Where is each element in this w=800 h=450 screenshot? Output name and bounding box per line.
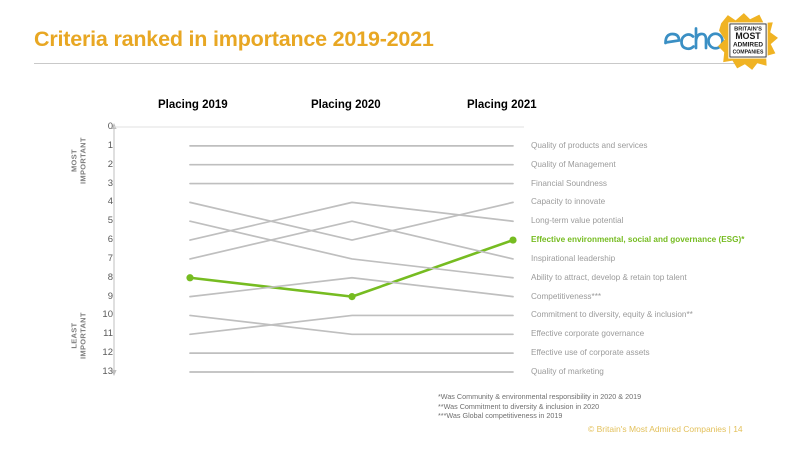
criteria-label-7: Ability to attract, develop & retain top…: [531, 273, 687, 283]
criteria-label-12: Quality of marketing: [531, 367, 604, 377]
series-marker-5-1: [348, 293, 355, 300]
series-marker-5-0: [186, 274, 193, 281]
criteria-label-3: Capacity to innovate: [531, 197, 605, 207]
series-line-10: [190, 315, 513, 334]
footnotes: *Was Community & environmental responsib…: [438, 392, 641, 421]
series-marker-5-2: [509, 236, 516, 243]
series-line-5: [190, 240, 513, 297]
footnote-3: ***Was Global competitiveness in 2019: [438, 411, 641, 421]
footnote-2: **Was Commitment to diversity & inclusio…: [438, 402, 641, 412]
criteria-label-4: Long-term value potential: [531, 216, 623, 226]
slide-canvas: Criteria ranked in importance 2019-2021 …: [0, 0, 800, 450]
footnote-1: *Was Community & environmental responsib…: [438, 392, 641, 402]
criteria-label-10: Effective corporate governance: [531, 329, 644, 339]
criteria-label-6: Inspirational leadership: [531, 254, 615, 264]
y-axis-line: [111, 123, 524, 376]
series-line-7: [190, 221, 513, 278]
criteria-label-1: Quality of Management: [531, 160, 616, 170]
criteria-label-0: Quality of products and services: [531, 141, 648, 151]
criteria-label-5: Effective environmental, social and gove…: [531, 235, 744, 245]
criteria-label-2: Financial Soundness: [531, 179, 607, 189]
footer-credit: © Britain's Most Admired Companies | 14: [588, 424, 743, 434]
criteria-label-11: Effective use of corporate assets: [531, 348, 650, 358]
series-line-9: [190, 315, 513, 334]
series-lines: [186, 146, 516, 372]
slope-chart-plot: [0, 0, 800, 450]
criteria-label-9: Commitment to diversity, equity & inclus…: [531, 310, 693, 320]
criteria-label-8: Competitiveness***: [531, 292, 601, 302]
